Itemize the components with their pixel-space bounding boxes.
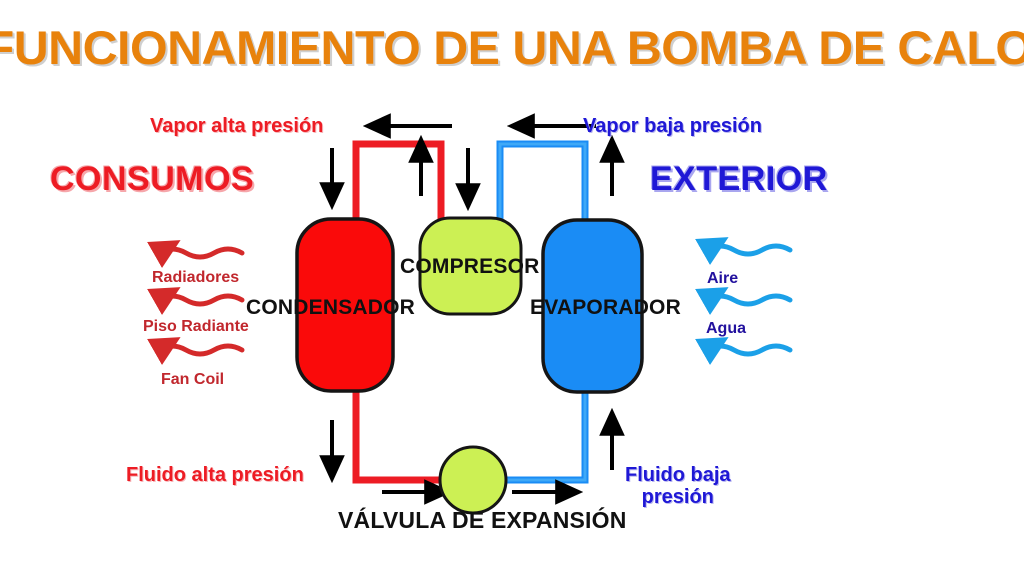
fluido-baja-line1: Fluido baja bbox=[625, 464, 731, 486]
component-valvula-expansion[interactable] bbox=[440, 447, 506, 513]
wave-extra bbox=[706, 346, 790, 354]
wave-radiadores bbox=[158, 249, 242, 257]
label-valvula-expansion: VÁLVULA DE EXPANSIÓN bbox=[338, 507, 627, 534]
diagram-canvas: FUNCIONAMIENTO DE UNA BOMBA DE CALOR bbox=[0, 0, 1024, 576]
wave-aire bbox=[706, 246, 790, 254]
label-fan-coil: Fan Coil bbox=[161, 371, 224, 389]
label-condensador: CONDENSADOR bbox=[246, 296, 415, 320]
label-compresor: COMPRESOR bbox=[400, 255, 539, 279]
wave-piso-radiante bbox=[158, 296, 242, 304]
fluido-baja-line2: presión bbox=[642, 486, 714, 508]
label-piso-radiante: Piso Radiante bbox=[143, 318, 249, 336]
pipe-blue-liquid bbox=[500, 388, 585, 480]
wave-fan-coil bbox=[158, 346, 242, 354]
label-vapor-alta-presion: Vapor alta presión bbox=[150, 115, 323, 137]
pipe-red-hot-vapor bbox=[356, 144, 441, 226]
label-fluido-baja-presion: Fluido baja presión bbox=[625, 464, 731, 509]
label-agua: Agua bbox=[706, 320, 746, 338]
pipe-red-liquid bbox=[356, 386, 446, 480]
label-evaporador: EVAPORADOR bbox=[530, 296, 681, 320]
piping-layer bbox=[0, 0, 1024, 576]
label-fluido-alta-presion: Fluido alta presión bbox=[126, 464, 304, 486]
zone-title-consumos: CONSUMOS bbox=[50, 160, 254, 198]
zone-title-exterior: EXTERIOR bbox=[650, 160, 828, 198]
consumos-wave-arrows bbox=[158, 249, 242, 354]
label-vapor-baja-presion: Vapor baja presión bbox=[583, 115, 762, 137]
label-aire: Aire bbox=[707, 270, 738, 288]
label-radiadores: Radiadores bbox=[152, 269, 239, 287]
wave-agua bbox=[706, 296, 790, 304]
pipe-blue-cold-vapor bbox=[500, 144, 585, 226]
